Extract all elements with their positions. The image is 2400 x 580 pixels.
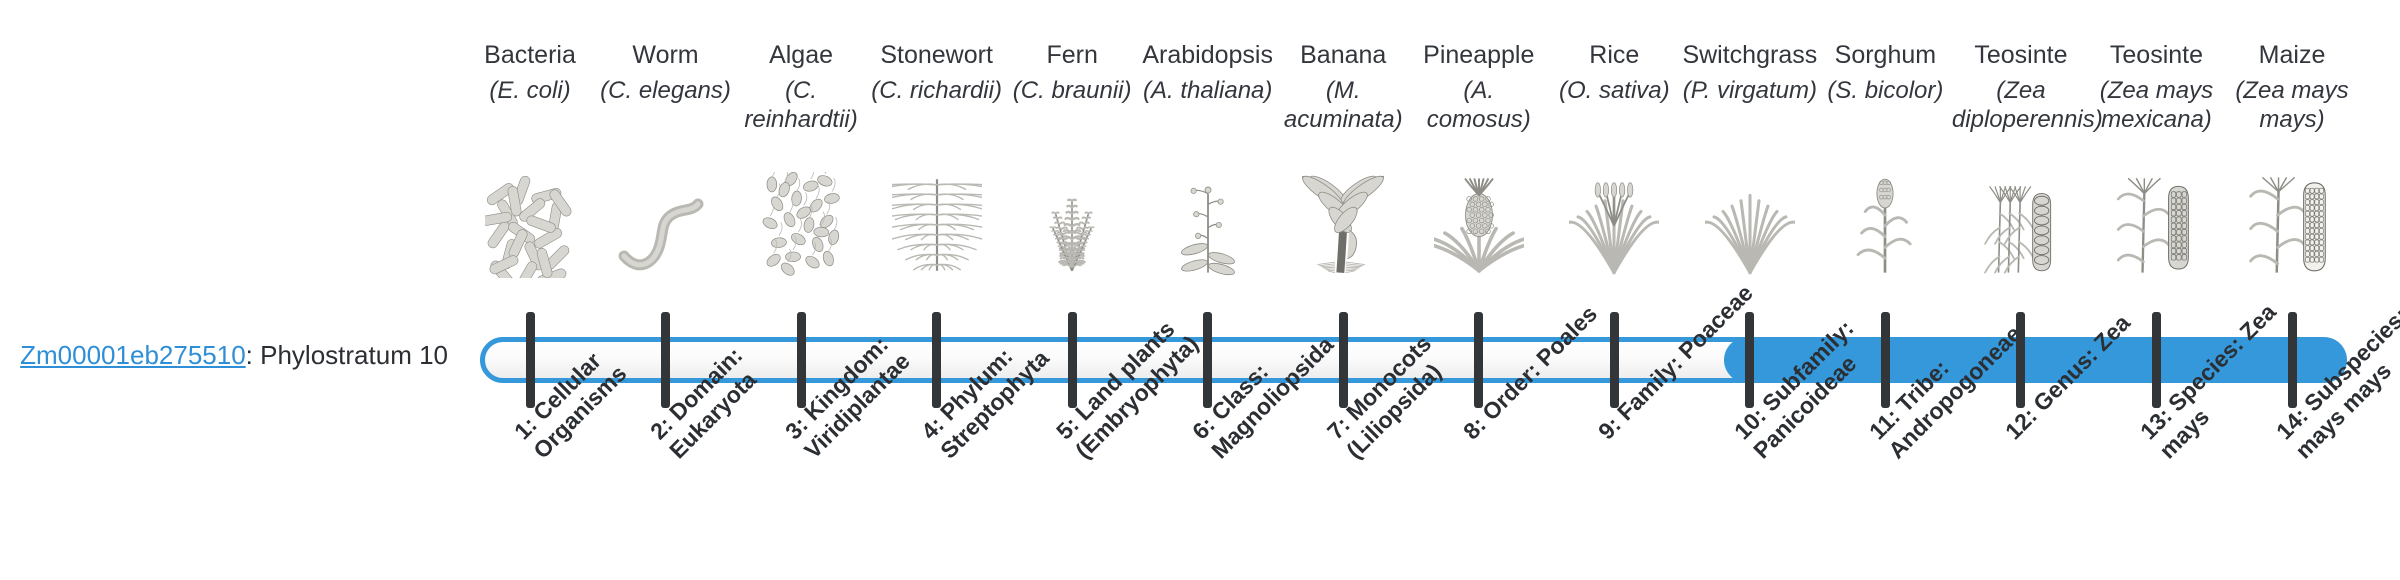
- species-common-name: Banana: [1274, 40, 1412, 70]
- species-scientific-name: (S. bicolor): [1816, 76, 1954, 105]
- worm-illustration: [597, 168, 735, 278]
- algae-illustration: [732, 168, 870, 278]
- stratum-tick-1: [526, 312, 535, 408]
- species-scientific-name: (Zea mays mays): [2223, 76, 2361, 134]
- stratum-tick-6: [1203, 312, 1212, 408]
- species-common-name: Worm: [597, 40, 735, 70]
- species-scientific-name: (A. comosus): [1410, 76, 1548, 134]
- phylostratum-figure: Zm00001eb275510: Phylostratum 10 Bacteri…: [0, 0, 2400, 580]
- stratum-tick-13: [2152, 312, 2161, 408]
- species-scientific-name: (O. sativa): [1545, 76, 1683, 105]
- stratum-tick-7: [1339, 312, 1348, 408]
- gene-label-separator: :: [246, 340, 260, 370]
- species-common-name: Rice: [1545, 40, 1683, 70]
- sorghum-illustration: [1816, 168, 1954, 278]
- arabidopsis-illustration: [1139, 168, 1277, 278]
- stonewort-illustration: [868, 168, 1006, 278]
- stratum-tick-3: [797, 312, 806, 408]
- stratum-tick-11: [1881, 312, 1890, 408]
- species-scientific-name: (P. virgatum): [1681, 76, 1819, 105]
- species-common-name: Algae: [732, 40, 870, 70]
- species-scientific-name: (M. acuminata): [1274, 76, 1412, 134]
- stratum-number: 12:: [2000, 402, 2042, 444]
- stratum-tick-2: [661, 312, 670, 408]
- teosinte-mexicana-illustration: [2087, 168, 2225, 278]
- rice-illustration: [1545, 168, 1683, 278]
- stratum-tick-12: [2016, 312, 2025, 408]
- gene-accession-link[interactable]: Zm00001eb275510: [20, 340, 246, 370]
- species-scientific-name: (C. elegans): [597, 76, 735, 105]
- species-common-name: Stonewort: [868, 40, 1006, 70]
- species-common-name: Arabidopsis: [1139, 40, 1277, 70]
- teosinte-diploperennis-illustration: [1952, 168, 2090, 278]
- stratum-tick-14: [2288, 312, 2297, 408]
- species-scientific-name: (C. reinhardtii): [732, 76, 870, 134]
- species-scientific-name: (E. coli): [461, 76, 599, 105]
- species-scientific-name: (C. braunii): [1003, 76, 1141, 105]
- stratum-tick-4: [932, 312, 941, 408]
- bacteria-illustration: [461, 168, 599, 278]
- fern-illustration: [1003, 168, 1141, 278]
- species-common-name: Switchgrass: [1681, 40, 1819, 70]
- species-common-name: Teosinte: [1952, 40, 2090, 70]
- species-scientific-name: (Zea diploperennis): [1952, 76, 2090, 134]
- species-common-name: Teosinte: [2087, 40, 2225, 70]
- species-common-name: Fern: [1003, 40, 1141, 70]
- gene-phylostratum-value: Phylostratum 10: [260, 340, 448, 370]
- stratum-tick-9: [1610, 312, 1619, 408]
- species-scientific-name: (A. thaliana): [1139, 76, 1277, 105]
- banana-illustration: [1274, 168, 1412, 278]
- species-common-name: Maize: [2223, 40, 2361, 70]
- stratum-tick-8: [1474, 312, 1483, 408]
- switchgrass-illustration: [1681, 168, 1819, 278]
- stratum-tick-10: [1745, 312, 1754, 408]
- species-common-name: Bacteria: [461, 40, 599, 70]
- gene-phylostratum-label: Zm00001eb275510: Phylostratum 10: [0, 340, 448, 370]
- maize-illustration: [2223, 168, 2361, 278]
- species-scientific-name: (Zea mays mexicana): [2087, 76, 2225, 134]
- stratum-tick-5: [1068, 312, 1077, 408]
- pineapple-illustration: [1410, 168, 1548, 278]
- species-common-name: Sorghum: [1816, 40, 1954, 70]
- species-scientific-name: (C. richardii): [868, 76, 1006, 105]
- species-common-name: Pineapple: [1410, 40, 1548, 70]
